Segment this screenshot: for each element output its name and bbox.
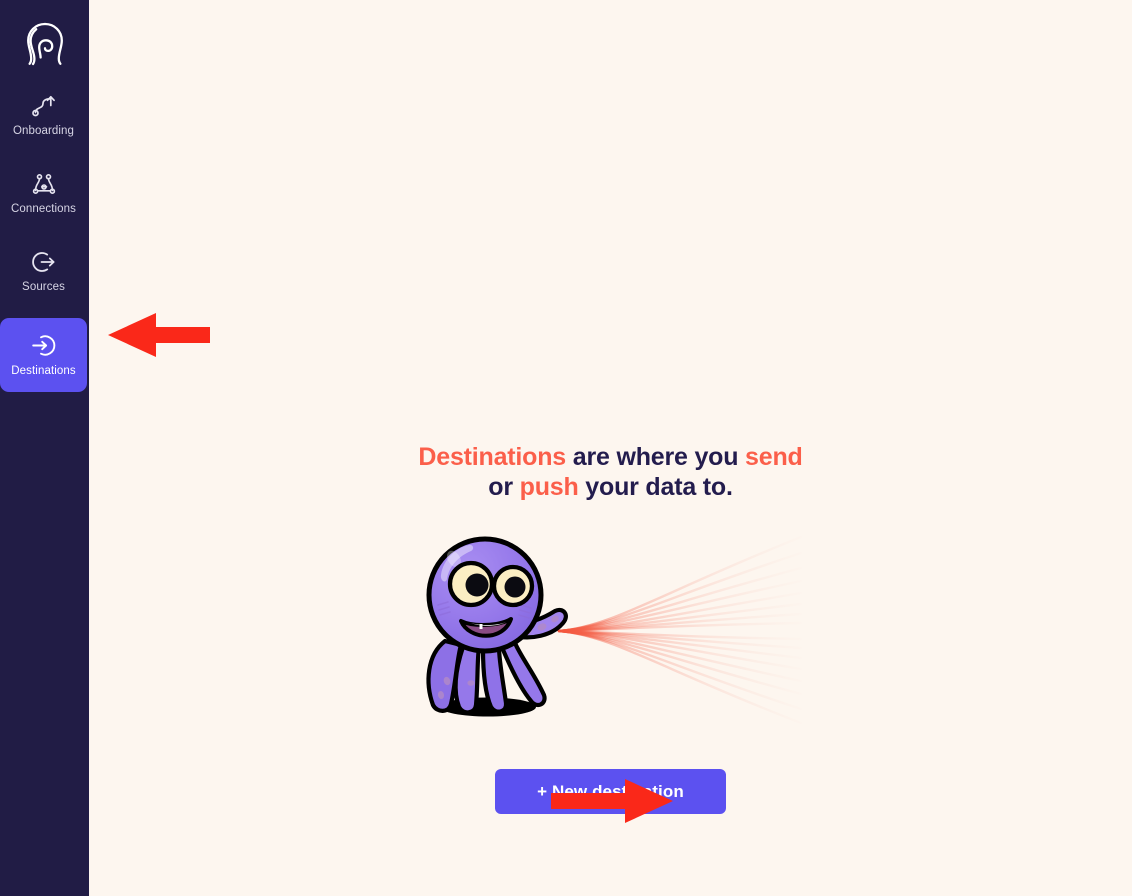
sidebar-nav-list: Onboarding Co	[0, 84, 89, 408]
sidebar-item-label-sources: Sources	[22, 282, 65, 294]
sidebar-item-connections[interactable]: Connections	[0, 162, 87, 224]
app-root: Onboarding Co	[0, 0, 1132, 896]
headline-word-send: send	[745, 443, 803, 471]
sidebar: Onboarding Co	[0, 0, 89, 896]
app-logo[interactable]	[0, 12, 89, 74]
headline-word-destinations: Destinations	[418, 443, 566, 471]
sidebar-item-sources[interactable]: Sources	[0, 240, 87, 302]
onboarding-icon	[31, 92, 57, 120]
destinations-icon	[30, 332, 58, 360]
empty-state-hero: Destinations are where you sendor push y…	[89, 443, 1132, 814]
octopus-mascot-illustration	[411, 523, 811, 738]
headline-text-2: or	[488, 473, 519, 501]
headline-word-push: push	[520, 473, 579, 501]
new-destination-button[interactable]: + New destination	[495, 769, 726, 814]
sidebar-item-label-destinations: Destinations	[11, 366, 75, 378]
headline-text-3: your data to.	[579, 473, 733, 501]
connections-icon	[30, 170, 58, 198]
headline-text-1: are where you	[566, 443, 745, 471]
sidebar-item-label-connections: Connections	[11, 204, 76, 216]
primary-action-row: + New destination	[495, 769, 726, 814]
main-content: Destinations are where you sendor push y…	[89, 0, 1132, 896]
sources-icon	[31, 248, 57, 276]
sidebar-item-label-onboarding: Onboarding	[13, 126, 74, 138]
sidebar-item-onboarding[interactable]: Onboarding	[0, 84, 87, 146]
sidebar-item-destinations[interactable]: Destinations	[0, 318, 87, 392]
page-headline: Destinations are where you sendor push y…	[418, 443, 802, 502]
octopus-logo-icon	[25, 21, 65, 66]
octopus-mascot-svg	[411, 523, 811, 738]
